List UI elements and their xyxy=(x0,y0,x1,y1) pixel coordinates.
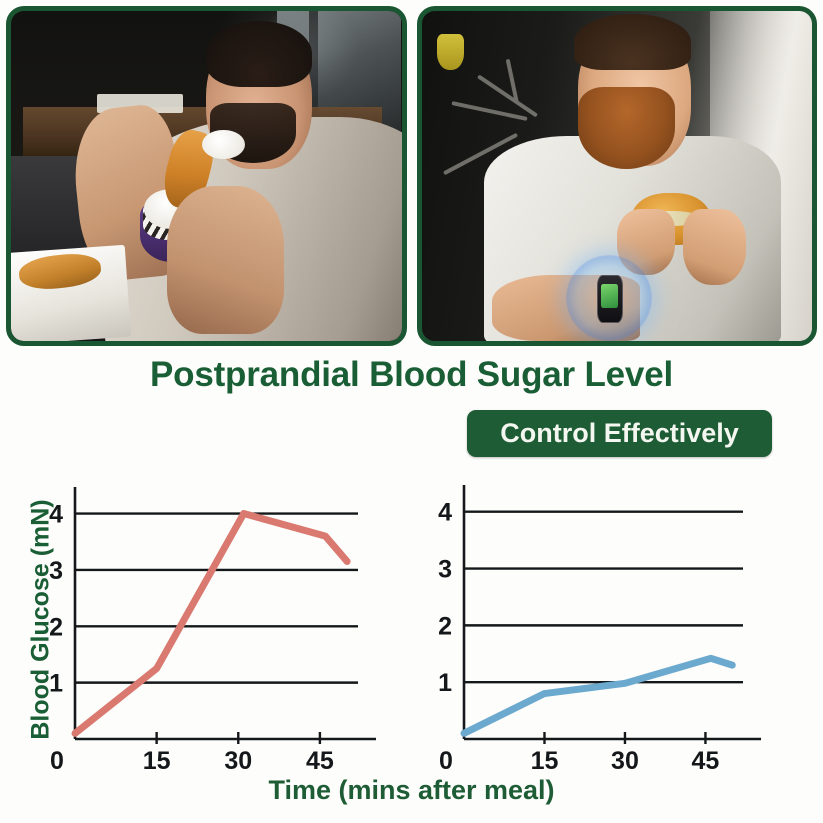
chart-controlled-svg: 01530451234 xyxy=(420,470,823,770)
hair-shape xyxy=(574,14,691,70)
photo-inner-right xyxy=(422,11,813,341)
photo-man-eating-dessert xyxy=(6,6,407,346)
y-axis-label: Blood Glucose (mN) xyxy=(27,485,56,755)
beard-shape xyxy=(578,87,676,170)
scene-burger xyxy=(422,11,813,341)
page-title: Postprandial Blood Sugar Level xyxy=(0,355,823,395)
y-tick-label: 2 xyxy=(438,612,452,640)
x-tick-label: 15 xyxy=(531,747,559,770)
x-tick-label: 15 xyxy=(143,747,171,770)
smartwatch-icon xyxy=(597,275,622,323)
data-line xyxy=(75,514,347,734)
x-axis-label: Time (mins after meal) xyxy=(0,775,823,806)
yellow-object-shape xyxy=(437,34,464,70)
y-tick-label: 1 xyxy=(438,669,452,697)
x-tick-label: 0 xyxy=(439,747,453,770)
control-effectively-badge: Control Effectively xyxy=(467,410,772,457)
photo-inner-left xyxy=(11,11,402,341)
y-tick-label: 4 xyxy=(438,499,452,527)
x-tick-label: 30 xyxy=(224,747,252,770)
right-hand-shape xyxy=(683,209,745,285)
x-tick-label: 30 xyxy=(611,747,639,770)
x-tick-label: 45 xyxy=(692,747,720,770)
photo-row xyxy=(6,6,817,346)
right-arm-shape xyxy=(167,186,284,335)
photo-man-eating-burger xyxy=(417,6,818,346)
chart-uncontrolled-svg: 01530451234 xyxy=(0,470,420,770)
chart-uncontrolled: 01530451234 Blood Glucose (mN) xyxy=(0,470,420,823)
y-tick-label: 3 xyxy=(438,556,452,584)
data-line xyxy=(464,658,732,733)
scene-dessert xyxy=(11,11,402,341)
x-tick-label: 45 xyxy=(306,747,334,770)
hair-shape xyxy=(206,21,311,87)
chart-controlled: 01530451234 xyxy=(420,470,823,823)
